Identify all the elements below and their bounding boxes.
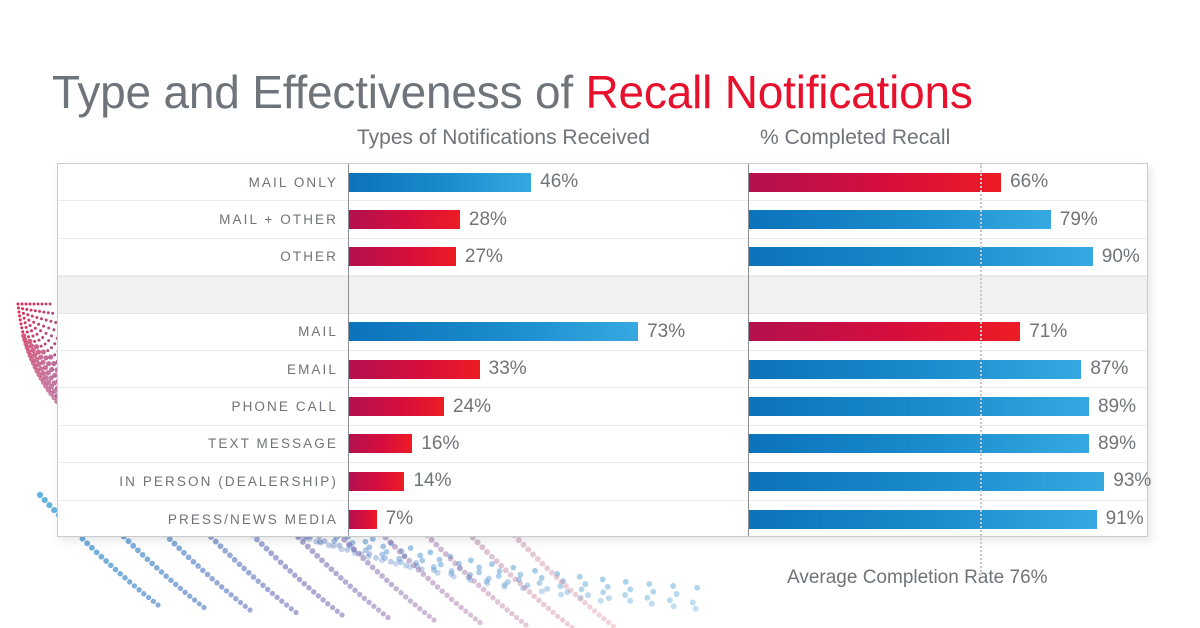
bar-value-label: 28% [469, 209, 507, 231]
row-label: TEXT MESSAGE [58, 436, 338, 451]
bar-group-completed-recall: 89% [749, 388, 1136, 424]
table-row: EMAIL33%87% [58, 351, 1147, 388]
bar-value-label: 89% [1098, 433, 1136, 455]
bar [349, 210, 460, 229]
bar-value-label: 71% [1029, 321, 1067, 343]
bar-group-types-received: 24% [349, 388, 491, 424]
table-row: MAIL73%71% [58, 314, 1147, 351]
bar-group-completed-recall: 71% [749, 314, 1067, 350]
chart-rows: MAIL ONLY46%66%MAIL + OTHER28%79%OTHER27… [58, 164, 1147, 536]
row-label: OTHER [58, 249, 338, 264]
bar-value-label: 66% [1010, 171, 1048, 193]
bar-value-label: 24% [453, 396, 491, 418]
bar [349, 173, 531, 192]
row-label: PHONE CALL [58, 399, 338, 414]
column-header-types: Types of Notifications Received [357, 126, 650, 150]
bar-value-label: 46% [540, 171, 578, 193]
row-label: MAIL + OTHER [58, 212, 338, 227]
bar-group-types-received: 28% [349, 201, 507, 237]
table-row: IN PERSON (DEALERSHIP)14%93% [58, 463, 1147, 500]
average-reference-line [980, 163, 982, 575]
bar-value-label: 16% [421, 433, 459, 455]
bar-group-types-received: 7% [349, 501, 413, 538]
bar [349, 472, 404, 491]
bar-value-label: 87% [1090, 358, 1128, 380]
bar-group-completed-recall: 89% [749, 426, 1136, 462]
bar-group-completed-recall: 93% [749, 463, 1151, 499]
axis-line-right [748, 164, 749, 536]
average-reference-label: Average Completion Rate 76% [787, 567, 1048, 589]
bar-group-completed-recall: 90% [749, 239, 1140, 275]
table-row: OTHER27%90% [58, 239, 1147, 276]
bar [349, 510, 377, 529]
page-title: Type and Effectiveness of Recall Notific… [52, 65, 973, 119]
bar [749, 173, 1001, 192]
bar-group-completed-recall: 66% [749, 164, 1048, 200]
bar [349, 247, 456, 266]
bar [349, 397, 444, 416]
table-row: PRESS/NEWS MEDIA7%91% [58, 501, 1147, 538]
bar-value-label: 33% [489, 358, 527, 380]
bar-group-types-received: 16% [349, 426, 459, 462]
column-header-completed: % Completed Recall [760, 126, 950, 150]
bar [749, 397, 1089, 416]
spacer-row [58, 276, 1147, 313]
bar-value-label: 90% [1102, 246, 1140, 268]
bar-group-completed-recall: 79% [749, 201, 1098, 237]
bar [349, 434, 412, 453]
bar-value-label: 79% [1060, 209, 1098, 231]
bar-group-types-received: 14% [349, 463, 451, 499]
page-title-accent: Recall Notifications [586, 66, 973, 118]
bar-value-label: 93% [1113, 470, 1151, 492]
row-label: PRESS/NEWS MEDIA [58, 512, 338, 527]
table-row: MAIL ONLY46%66% [58, 164, 1147, 201]
chart-card: MAIL ONLY46%66%MAIL + OTHER28%79%OTHER27… [57, 163, 1148, 537]
table-row: MAIL + OTHER28%79% [58, 201, 1147, 238]
bar [349, 322, 638, 341]
bar [749, 210, 1051, 229]
bar [749, 472, 1104, 491]
bar-group-completed-recall: 87% [749, 351, 1128, 387]
bar-group-types-received: 33% [349, 351, 527, 387]
bar [349, 360, 480, 379]
row-label: MAIL [58, 324, 338, 339]
bar [749, 247, 1093, 266]
bar-value-label: 73% [647, 321, 685, 343]
bar [749, 510, 1097, 529]
bar-value-label: 7% [386, 508, 413, 530]
row-label: EMAIL [58, 362, 338, 377]
bar-value-label: 89% [1098, 396, 1136, 418]
bar [749, 360, 1081, 379]
bar-value-label: 14% [413, 470, 451, 492]
row-label: IN PERSON (DEALERSHIP) [58, 474, 338, 489]
page-title-plain: Type and Effectiveness of [52, 66, 586, 118]
axis-line-left [348, 164, 349, 536]
bar-group-completed-recall: 91% [749, 501, 1144, 538]
bar-value-label: 91% [1106, 508, 1144, 530]
bar-group-types-received: 73% [349, 314, 685, 350]
table-row: TEXT MESSAGE16%89% [58, 426, 1147, 463]
bar-group-types-received: 27% [349, 239, 503, 275]
table-row: PHONE CALL24%89% [58, 388, 1147, 425]
bar-value-label: 27% [465, 246, 503, 268]
bar [749, 434, 1089, 453]
bar-group-types-received: 46% [349, 164, 578, 200]
row-label: MAIL ONLY [58, 175, 338, 190]
